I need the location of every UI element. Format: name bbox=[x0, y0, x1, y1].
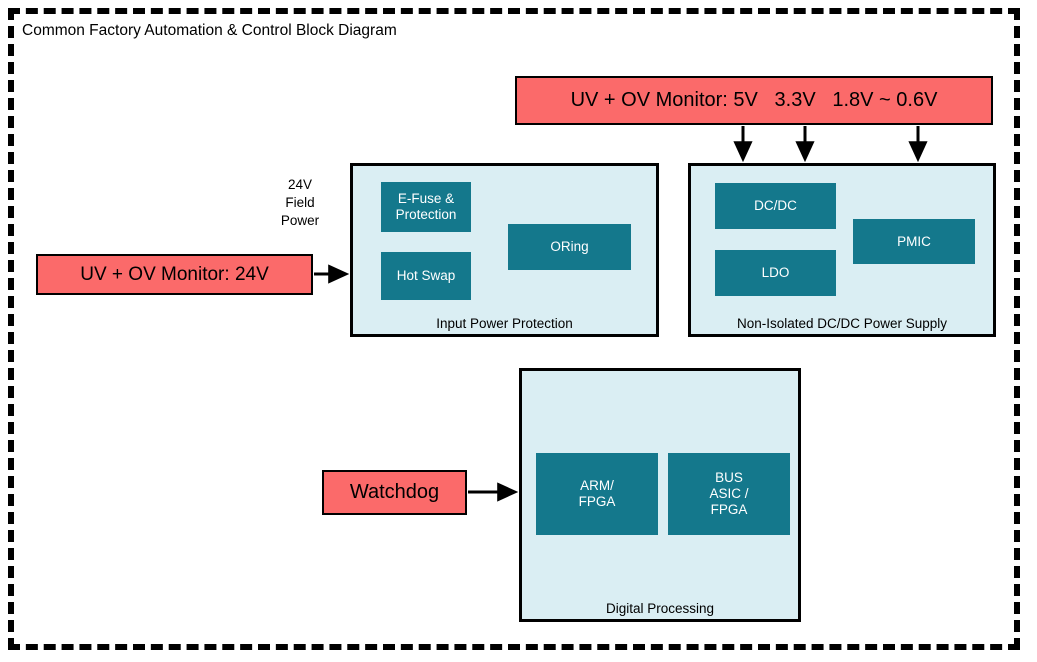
block-e-fuse-protection-label: E-Fuse & Protection bbox=[396, 191, 457, 223]
watchdog-box[interactable]: Watchdog bbox=[322, 470, 467, 515]
block-bus-asic-fpga[interactable]: BUS ASIC / FPGA bbox=[668, 453, 790, 535]
block-arm-fpga[interactable]: ARM/ FPGA bbox=[536, 453, 658, 535]
group-input-power-protection-caption: Input Power Protection bbox=[353, 316, 656, 331]
block-bus-asic-fpga-label: BUS ASIC / FPGA bbox=[709, 470, 748, 518]
input-uv-ov-monitor-label: UV + OV Monitor: 24V bbox=[80, 264, 269, 286]
rail-uv-ov-monitor-label: UV + OV Monitor: 5V 3.3V 1.8V ~ 0.6V bbox=[571, 89, 938, 112]
block-arm-fpga-label: ARM/ FPGA bbox=[579, 478, 616, 510]
block-ldo[interactable]: LDO bbox=[715, 250, 836, 296]
input-uv-ov-monitor-box[interactable]: UV + OV Monitor: 24V bbox=[36, 254, 313, 295]
group-non-isolated-dcdc-power-supply[interactable]: DC/DC LDO PMIC Non-Isolated DC/DC Power … bbox=[688, 163, 996, 337]
group-digital-processing[interactable]: ARM/ FPGA BUS ASIC / FPGA Digital Proces… bbox=[519, 368, 801, 622]
block-e-fuse-protection[interactable]: E-Fuse & Protection bbox=[381, 182, 471, 232]
block-diagram-canvas: Common Factory Automation & Control Bloc… bbox=[0, 0, 1037, 662]
block-oring-label: ORing bbox=[550, 239, 588, 255]
group-digital-processing-caption: Digital Processing bbox=[522, 601, 798, 616]
block-dcdc[interactable]: DC/DC bbox=[715, 183, 836, 229]
block-dcdc-label: DC/DC bbox=[754, 198, 797, 214]
group-non-isolated-dcdc-power-supply-caption: Non-Isolated DC/DC Power Supply bbox=[691, 316, 993, 331]
block-oring[interactable]: ORing bbox=[508, 224, 631, 270]
page-title: Common Factory Automation & Control Bloc… bbox=[22, 22, 397, 40]
block-pmic-label: PMIC bbox=[897, 234, 931, 250]
block-hot-swap[interactable]: Hot Swap bbox=[381, 252, 471, 300]
block-pmic[interactable]: PMIC bbox=[853, 219, 975, 264]
field-power-label: 24V Field Power bbox=[262, 176, 338, 229]
block-hot-swap-label: Hot Swap bbox=[397, 268, 456, 284]
block-ldo-label: LDO bbox=[762, 265, 790, 281]
rail-uv-ov-monitor-box[interactable]: UV + OV Monitor: 5V 3.3V 1.8V ~ 0.6V bbox=[515, 76, 993, 125]
group-input-power-protection[interactable]: E-Fuse & Protection Hot Swap ORing Input… bbox=[350, 163, 659, 337]
watchdog-label: Watchdog bbox=[350, 481, 439, 504]
